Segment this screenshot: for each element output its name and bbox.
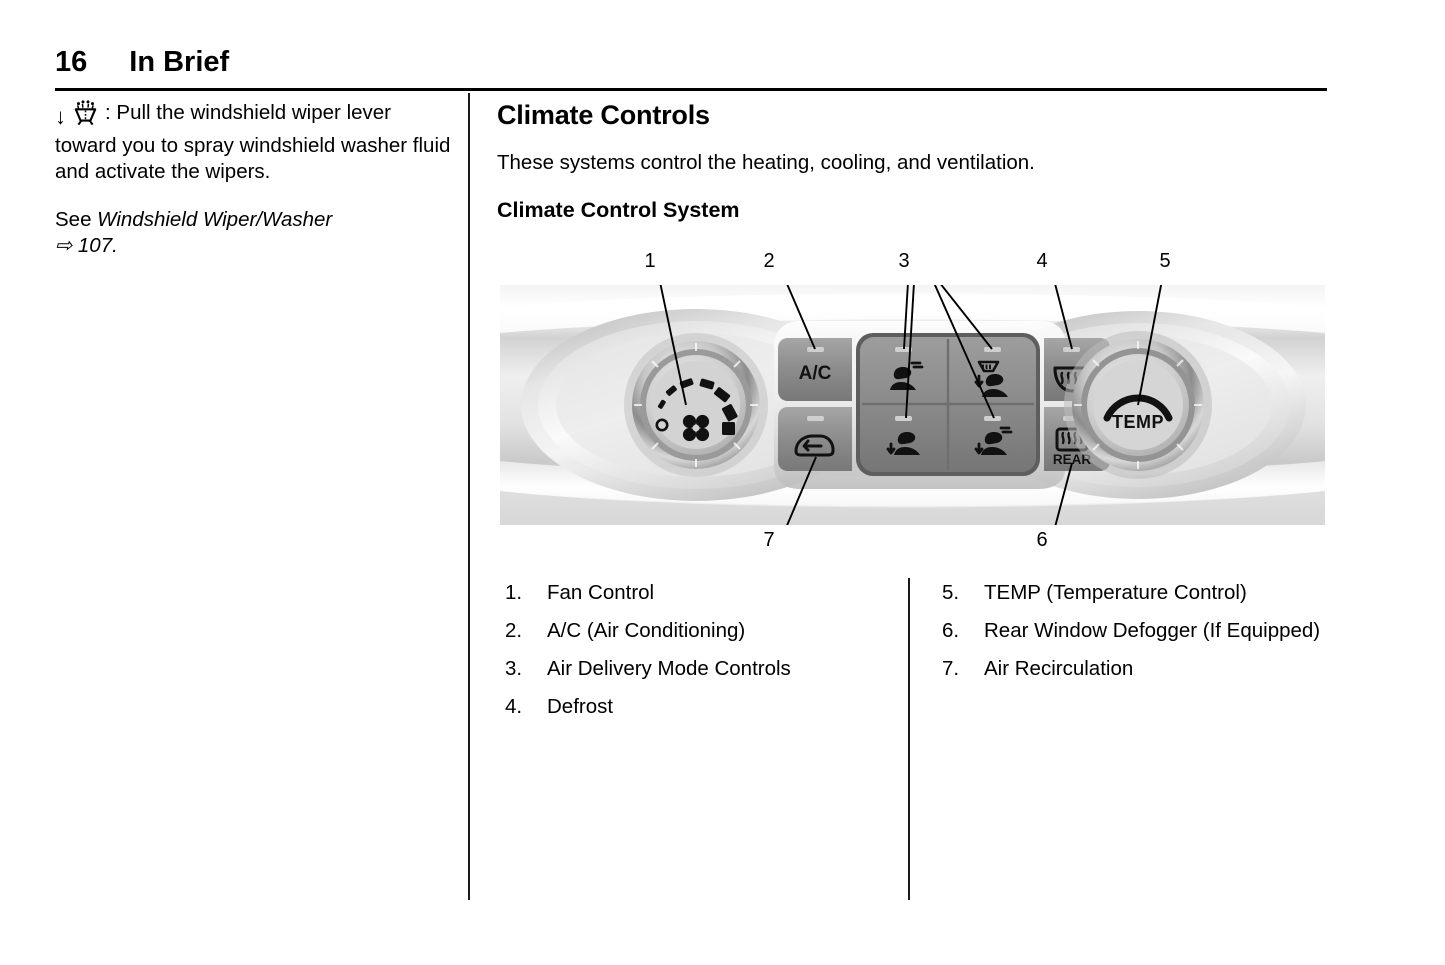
page-number: 16: [55, 46, 87, 79]
list-item-number: 4.: [505, 694, 547, 719]
list-item-label: A/C (Air Conditioning): [547, 618, 900, 643]
see-reference-paragraph: See Windshield Wiper/Washer ⇨ 107.: [55, 207, 455, 259]
list-item: 3. Air Delivery Mode Controls: [505, 656, 900, 681]
list-item-number: 5.: [942, 580, 984, 605]
legend-list-right: 5. TEMP (Temperature Control) 6. Rear Wi…: [942, 580, 1322, 694]
legend-column-divider: [908, 578, 910, 900]
list-item-label: TEMP (Temperature Control): [984, 580, 1322, 605]
list-item-number: 2.: [505, 618, 547, 643]
climate-intro-text: These systems control the heating, cooli…: [497, 151, 1327, 175]
left-column: ↓: Pull the windshield wiper lever towar…: [55, 100, 455, 259]
list-item: 5. TEMP (Temperature Control): [942, 580, 1322, 605]
list-item: 2. A/C (Air Conditioning): [505, 618, 900, 643]
page-title: In Brief: [129, 46, 229, 79]
washer-text: : Pull the windshield wiper lever toward…: [55, 101, 450, 183]
see-page-number: 107: [78, 234, 112, 257]
fan-control-knob: [624, 333, 768, 477]
callout-1: 1: [639, 250, 661, 273]
list-item-label: Rear Window Defogger (If Equipped): [984, 618, 1322, 643]
callout-5: 5: [1154, 250, 1176, 273]
arrow-down-icon: ↓: [55, 106, 66, 128]
list-item-number: 6.: [942, 618, 984, 643]
callout-3: 3: [893, 250, 915, 273]
header-rule: [55, 88, 1327, 91]
callout-6: 6: [1031, 529, 1053, 552]
callout-4: 4: [1031, 250, 1053, 273]
climate-control-figure: 1 2 3 4 5 6 7: [497, 250, 1327, 555]
list-item-number: 3.: [505, 656, 547, 681]
list-item-label: Air Recirculation: [984, 656, 1322, 681]
list-item-label: Fan Control: [547, 580, 900, 605]
page-ref-arrow-icon: ⇨: [55, 234, 72, 257]
page-header: 16 In Brief: [55, 46, 1327, 90]
right-column: Climate Controls These systems control t…: [497, 100, 1327, 223]
legend-list-left: 1. Fan Control 2. A/C (Air Conditioning)…: [505, 580, 900, 732]
see-reference-title: Windshield Wiper/Washer: [97, 208, 332, 231]
list-item: 1. Fan Control: [505, 580, 900, 605]
climate-controls-heading: Climate Controls: [497, 100, 1327, 131]
see-prefix: See: [55, 208, 97, 231]
list-item: 7. Air Recirculation: [942, 656, 1322, 681]
column-divider: [468, 93, 470, 900]
list-item: 6. Rear Window Defogger (If Equipped): [942, 618, 1322, 643]
climate-control-system-heading: Climate Control System: [497, 198, 1327, 223]
air-delivery-mode-buttons: [856, 333, 1040, 476]
see-period: .: [112, 234, 118, 257]
washer-paragraph: ↓: Pull the windshield wiper lever towar…: [55, 100, 455, 185]
list-item-label: Air Delivery Mode Controls: [547, 656, 900, 681]
list-item-number: 1.: [505, 580, 547, 605]
temp-knob-label: TEMP: [1112, 412, 1164, 432]
ac-button-label: A/C: [799, 363, 832, 384]
callout-7: 7: [758, 529, 780, 552]
windshield-washer-icon: [69, 100, 103, 133]
list-item: 4. Defrost: [505, 694, 900, 719]
climate-control-panel-image: A/C: [500, 285, 1325, 525]
list-item-number: 7.: [942, 656, 984, 681]
callout-2: 2: [758, 250, 780, 273]
list-item-label: Defrost: [547, 694, 900, 719]
